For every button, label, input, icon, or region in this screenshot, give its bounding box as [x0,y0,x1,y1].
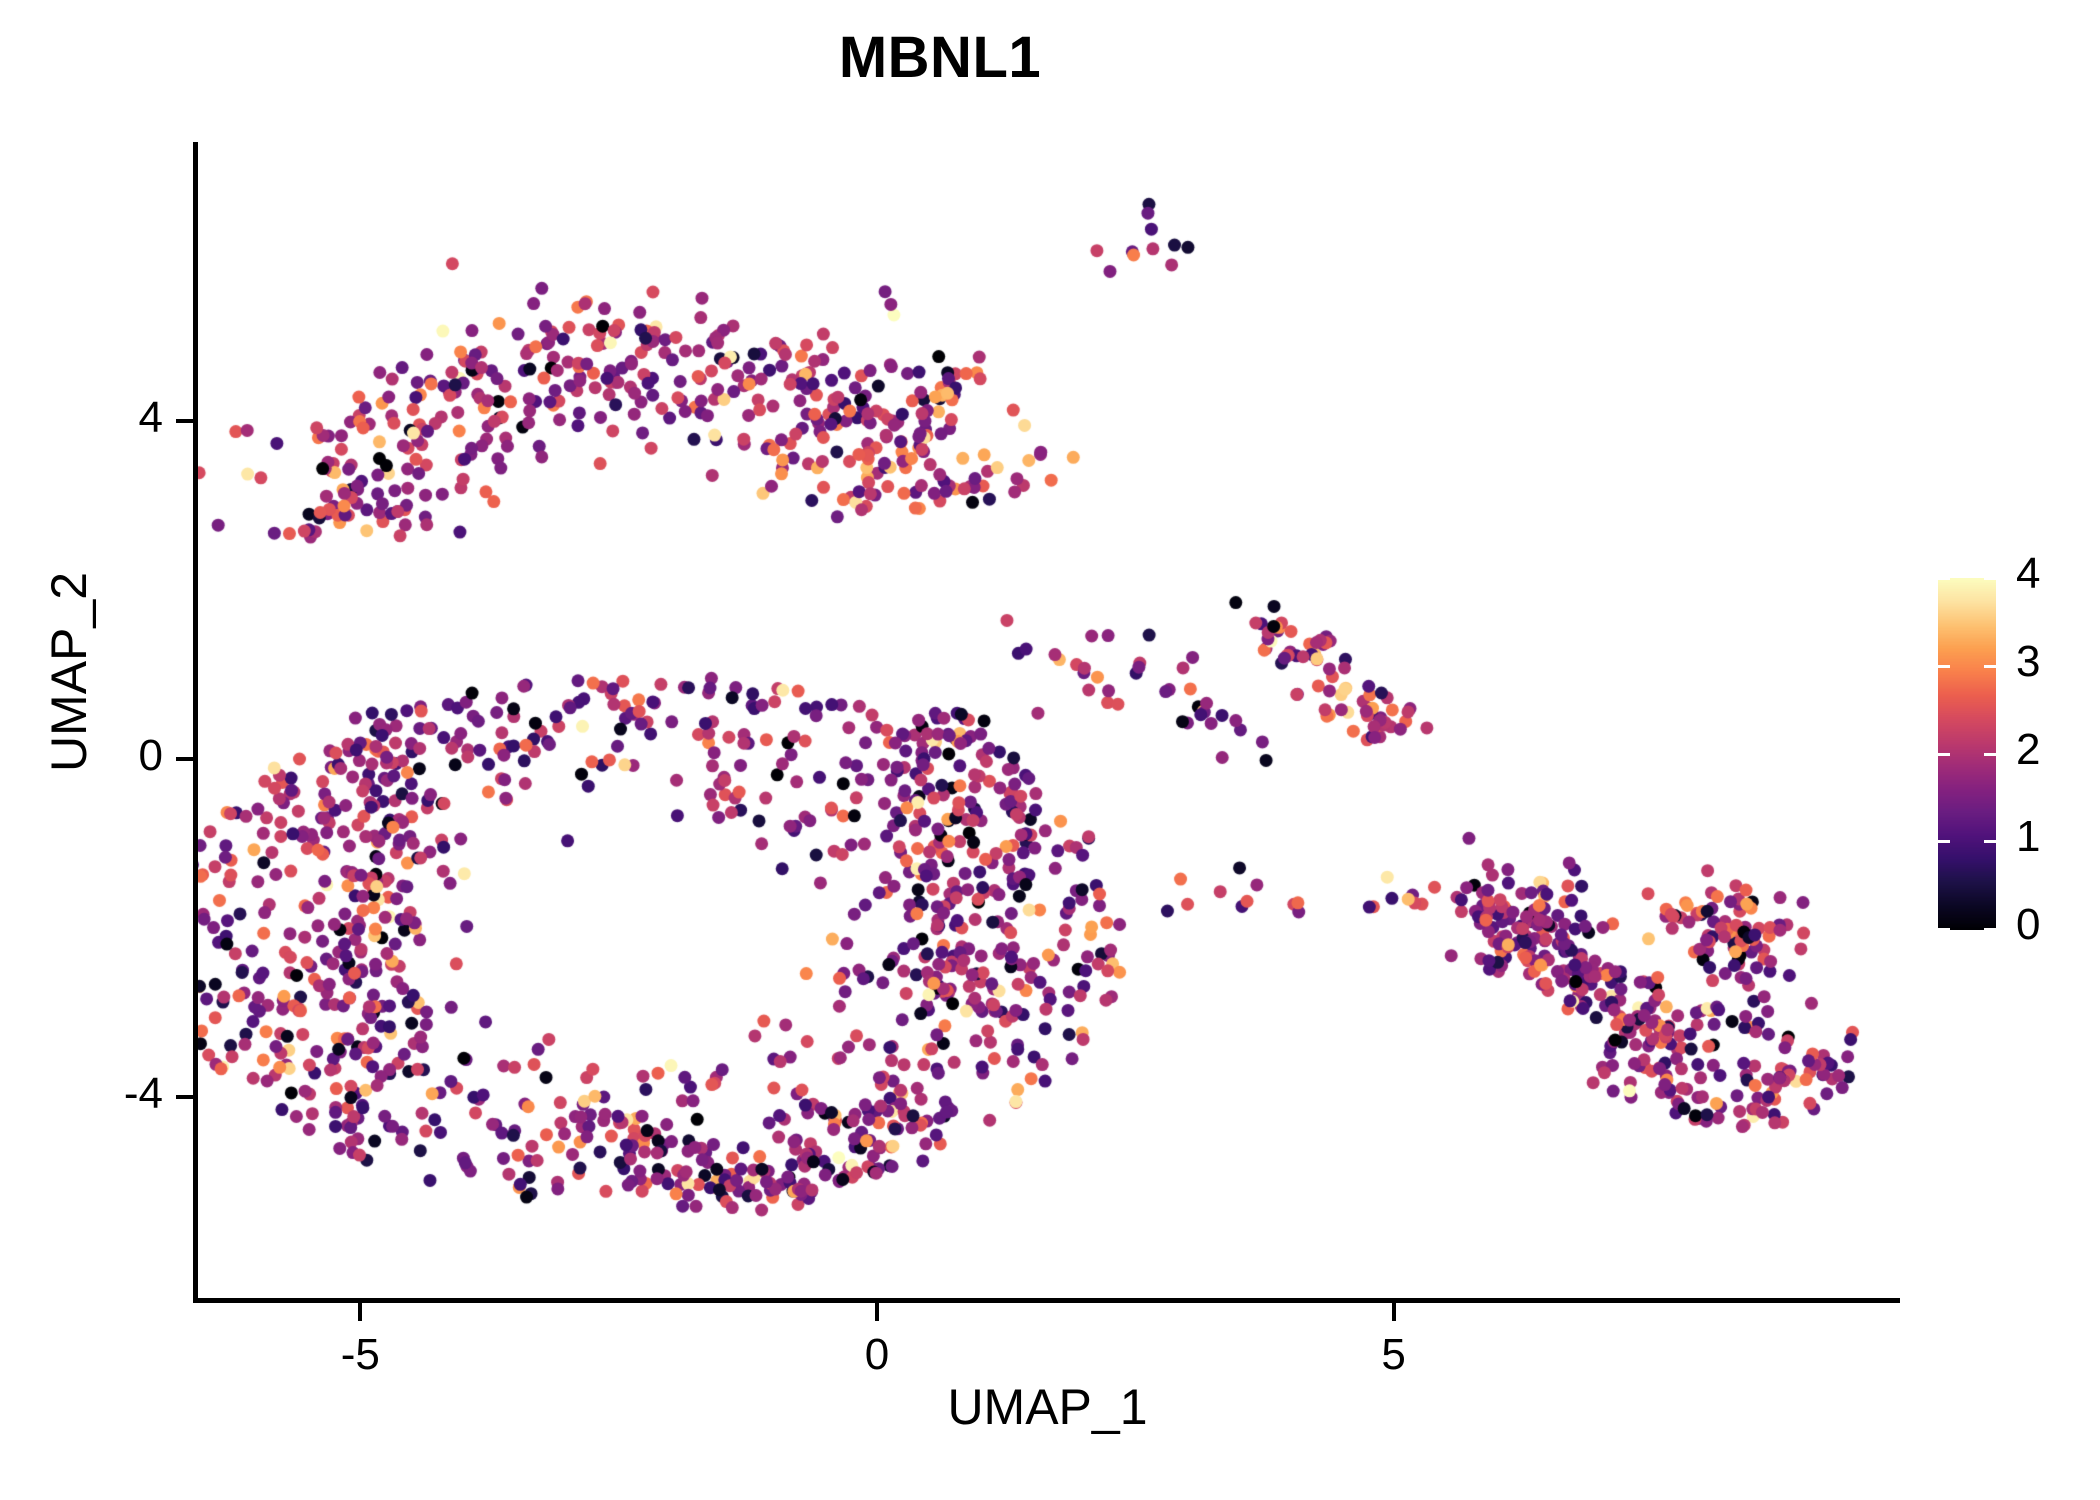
y-tick-mark [176,1095,194,1099]
y-tick-mark [176,757,194,761]
colorbar-tick-label: 4 [2016,552,2040,596]
plot-panel [195,142,1900,1300]
x-tick-label: -5 [260,1330,460,1380]
x-tick-label: 5 [1294,1330,1494,1380]
colorbar-tick-mark [1938,753,1950,756]
page-title: MBNL1 [0,26,1880,90]
x-tick-mark [875,1303,879,1321]
x-tick-label: 0 [777,1330,977,1380]
x-tick-mark [1392,1303,1396,1321]
colorbar-tick-label: 0 [2016,903,2040,947]
y-tick-label: -4 [0,1069,163,1119]
x-axis-label: UMAP_1 [195,1378,1900,1436]
y-tick-mark [176,419,194,423]
colorbar-tick-mark [1938,577,1950,580]
x-tick-mark [358,1303,362,1321]
y-axis-label: UMAP_2 [40,572,98,772]
colorbar-tick-mark [1984,840,1996,843]
colorbar-tick-label: 1 [2016,815,2040,859]
y-axis-label-wrapper: UMAP_2 [39,322,99,1022]
colorbar-tick-label: 2 [2016,728,2040,772]
umap-feature-plot: MBNL1 -404-505 UMAP_1 UMAP_2 43210 [0,0,2100,1500]
colorbar-tick-mark [1938,840,1950,843]
colorbar-tick-mark [1984,753,1996,756]
x-axis-line [193,1298,1900,1303]
colorbar-tick-mark [1938,928,1950,931]
colorbar-tick-mark [1984,665,1996,668]
colorbar-tick-label: 3 [2016,640,2040,684]
colorbar-tick-mark [1984,577,1996,580]
y-axis-line [193,142,198,1303]
colorbar-tick-mark [1984,928,1996,931]
scatter-points-canvas [195,142,1900,1300]
colorbar-tick-mark [1938,665,1950,668]
colorbar-legend: 43210 [1938,578,2088,930]
